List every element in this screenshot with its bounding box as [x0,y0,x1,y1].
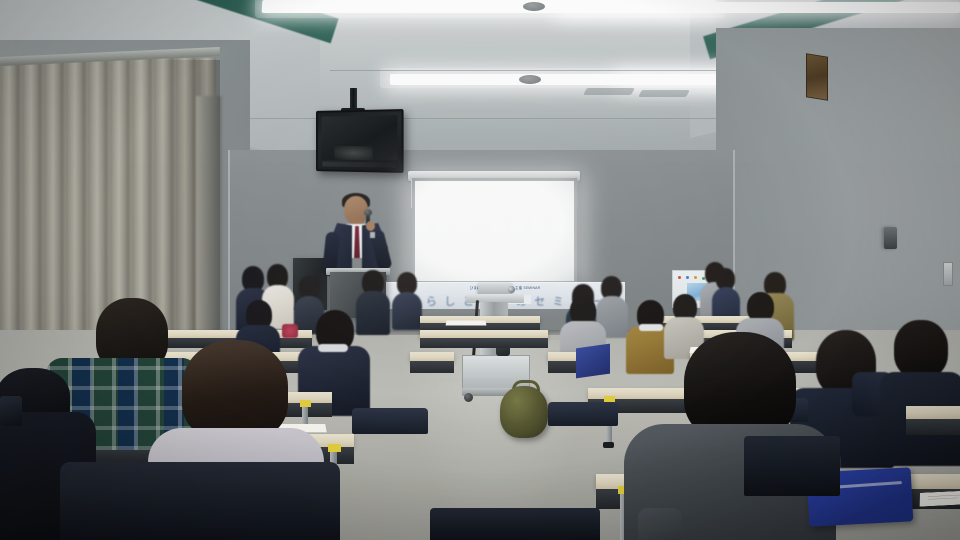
poster-dot [686,276,689,279]
wall-corner-left [228,150,230,340]
fluorescent-troffer-2 [560,2,960,13]
paper-line [928,495,960,497]
attendee-dark-back-row [392,272,422,328]
chair-back [352,408,428,434]
desk-modesty-panel [420,338,548,348]
desk-foot [603,442,614,448]
chair-back [744,436,840,496]
poster-dot [678,276,681,279]
phone-or-device [0,396,22,426]
head [894,320,948,378]
caster-wheel [464,393,473,402]
desk-leg-bracket [328,444,341,452]
desk-modesty-panel [906,419,960,435]
tv-bezel-bar [322,161,395,167]
ceiling-seam [330,70,730,71]
air-vent [638,90,690,97]
smoke-detector-2 [519,75,541,84]
chair-back [548,402,618,426]
light-switch-plate[interactable] [943,262,953,286]
smoke-detector-1 [523,2,545,11]
wall-speaker [884,227,897,249]
head [182,340,288,440]
presenter-hand [366,221,375,231]
shirt-collar [639,324,663,331]
handout-sheet [920,490,960,506]
seminar-room-photo: ひまわり アソシエーション 主催 SEMINAR く ら し と ○ ○ の セ… [0,0,960,540]
air-vent [583,88,635,95]
chair-back [60,462,340,540]
desk-row-right-edge [906,406,960,420]
poster-dot [694,276,697,279]
presenter-name-badge [370,232,375,238]
wooden-wall-plaque [806,53,828,100]
projection-screen [415,181,574,281]
attendee-dark-jacket-right [880,320,960,460]
pink-object-on-desk [282,324,298,338]
blue-folder [576,344,610,379]
paper-line [928,498,958,500]
tv-reflection [334,146,372,160]
olive-duffel-bag [500,386,548,438]
handout-sheet [446,321,487,326]
microphone-head [364,209,372,216]
chair-back [430,508,600,540]
ceiling-mounted-tv [316,109,404,173]
projector-lens [508,286,515,293]
desk-modesty-panel [410,361,454,373]
torso [392,292,422,330]
arm [638,508,682,540]
